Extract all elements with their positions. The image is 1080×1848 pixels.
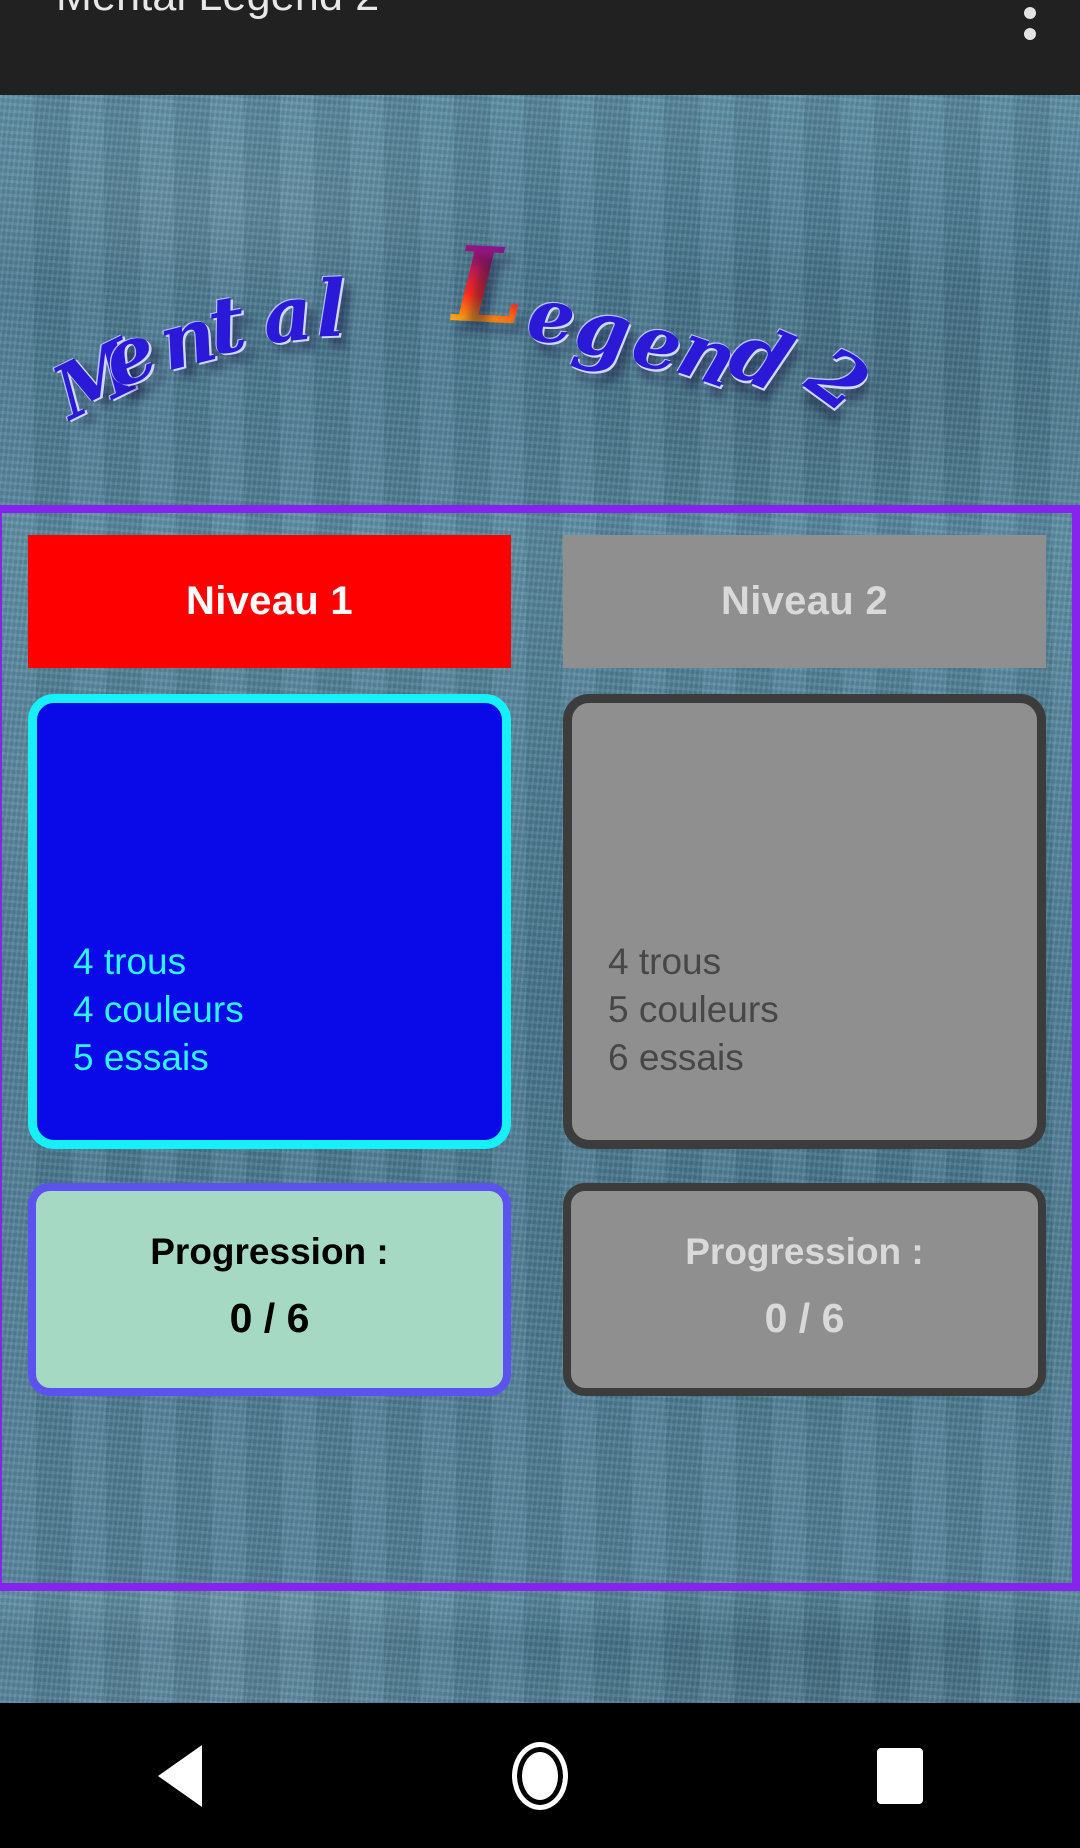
level-1-progression-value: 0 / 6 <box>230 1295 310 1342</box>
recents-square-icon <box>877 1748 923 1804</box>
kebab-menu-icon[interactable] <box>1024 0 1036 40</box>
level-2-progression-box[interactable]: Progression : 0 / 6 <box>563 1183 1046 1396</box>
logo-letter: e <box>524 277 580 356</box>
app-bar: Mental Legend 2 <box>0 0 1080 95</box>
level-column-1: Niveau 1 4 trous 4 couleurs 5 essais Pro… <box>2 513 537 1583</box>
logo-letter: l <box>315 271 347 350</box>
level-2-progression-value: 0 / 6 <box>765 1295 845 1342</box>
level-1-colors: 4 couleurs <box>73 986 502 1034</box>
level-2-title-button[interactable]: Niveau 2 <box>563 535 1046 668</box>
level-1-holes: 4 trous <box>73 938 502 986</box>
page-title: Mental Legend 2 <box>56 0 379 21</box>
logo-letter: a <box>259 275 316 356</box>
nav-home-button[interactable] <box>450 1703 630 1848</box>
logo-letter: 2 <box>795 335 880 425</box>
level-2-colors: 5 couleurs <box>608 986 1037 1034</box>
level-2-holes: 4 trous <box>608 938 1037 986</box>
app-logo: M e n t a l L e g e n d 2 <box>0 95 1080 505</box>
level-2-tries: 6 essais <box>608 1034 1037 1082</box>
level-2-rules-panel[interactable]: 4 trous 5 couleurs 6 essais <box>563 694 1046 1149</box>
android-nav-bar <box>0 1703 1080 1848</box>
level-1-progression-box[interactable]: Progression : 0 / 6 <box>28 1183 511 1396</box>
level-1-rules-panel[interactable]: 4 trous 4 couleurs 5 essais <box>28 694 511 1149</box>
logo-letter-gradient: L <box>449 232 527 340</box>
nav-recents-button[interactable] <box>810 1703 990 1848</box>
home-circle-icon <box>512 1742 568 1810</box>
level-1-title-button[interactable]: Niveau 1 <box>28 535 511 668</box>
level-1-tries: 5 essais <box>73 1034 502 1082</box>
level-selection-container: Niveau 1 4 trous 4 couleurs 5 essais Pro… <box>0 505 1080 1591</box>
nav-back-button[interactable] <box>90 1703 270 1848</box>
logo-banner: M e n t a l L e g e n d 2 <box>0 95 1080 505</box>
logo-letter: g <box>569 287 637 374</box>
back-triangle-icon <box>158 1745 202 1807</box>
level-column-2: Niveau 2 4 trous 5 couleurs 6 essais Pro… <box>537 513 1072 1583</box>
level-2-progression-label: Progression : <box>685 1231 924 1273</box>
level-1-progression-label: Progression : <box>150 1231 389 1273</box>
lower-background <box>0 1591 1080 1703</box>
